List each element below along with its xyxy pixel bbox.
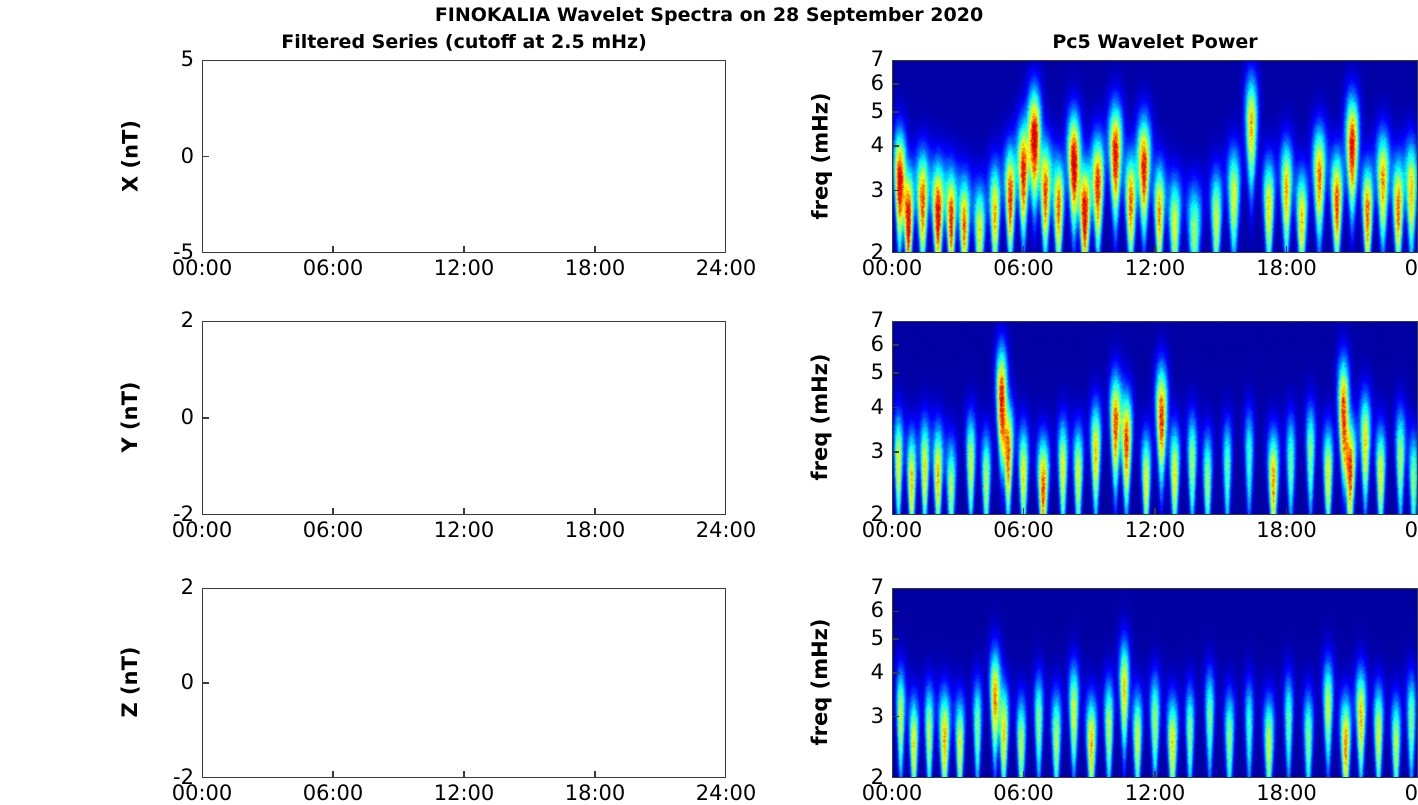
x-tick-label: 00 <box>1405 257 1418 279</box>
x-tick-label: 00:00 <box>172 519 233 541</box>
x-tick-label: 18:00 <box>1256 782 1317 804</box>
x-tick-mark <box>594 771 596 778</box>
y-tick-mark <box>892 372 899 374</box>
y-tick-label: 5 <box>181 49 194 70</box>
y-tick-mark <box>202 682 209 684</box>
x-tick-mark <box>1154 771 1156 778</box>
y-tick-mark <box>892 611 899 613</box>
y-tick-mark <box>892 672 899 674</box>
y-tick-label: 0 <box>181 672 194 693</box>
y-tick-label: 6 <box>871 73 884 94</box>
y-axis-ticks: 765432 <box>838 588 884 778</box>
x-tick-label: 06:00 <box>303 519 364 541</box>
x-tick-label: 00:00 <box>862 257 923 279</box>
y-axis-ticks: 765432 <box>838 321 884 515</box>
left-column-title: Filtered Series (cutoff at 2.5 mHz) <box>150 31 778 53</box>
x-tick-mark <box>463 246 465 253</box>
y-tick-mark <box>892 407 899 409</box>
axes-frame <box>892 60 1418 253</box>
y-axis-ticks: 20-2 <box>148 588 194 778</box>
y-tick-label: 2 <box>181 577 194 598</box>
y-tick-label: 6 <box>871 600 884 621</box>
y-tick-mark <box>892 451 899 453</box>
plot-panel-z-wavelet-power: 765432freq (mHz)00:0006:0012:0018:0000 <box>892 588 1418 778</box>
y-axis-ticks: 765432 <box>838 60 884 253</box>
x-tick-label: 06:00 <box>993 519 1054 541</box>
y-tick-label: 6 <box>871 334 884 355</box>
right-column-title: Pc5 Wavelet Power <box>892 31 1418 53</box>
x-tick-label: 06:00 <box>303 257 364 279</box>
x-tick-label: 24:00 <box>696 519 757 541</box>
x-tick-mark <box>332 508 334 515</box>
axes-frame <box>202 321 726 515</box>
x-tick-label: 00:00 <box>862 519 923 541</box>
x-tick-label: 24:00 <box>696 257 757 279</box>
x-tick-mark <box>1154 508 1156 515</box>
plot-panel-y-filtered-series: 20-2Y (nT)00:0006:0012:0018:0024:00 <box>202 321 726 515</box>
y-axis-label: Y (nT) <box>118 320 142 514</box>
plot-panel-x-filtered-series: 50-5X (nT)00:0006:0012:0018:0024:00 <box>202 60 726 253</box>
y-axis-label: X (nT) <box>118 59 142 252</box>
axes-frame <box>202 588 726 778</box>
x-tick-mark <box>1154 246 1156 253</box>
x-tick-label: 00:00 <box>172 257 233 279</box>
y-tick-label: 5 <box>871 101 884 122</box>
axes-frame <box>892 588 1418 778</box>
x-tick-label: 18:00 <box>1256 257 1317 279</box>
y-tick-label: 0 <box>181 146 194 167</box>
y-tick-label: 4 <box>871 135 884 156</box>
axes-frame <box>202 60 726 253</box>
x-tick-mark <box>332 246 334 253</box>
x-tick-label: 12:00 <box>1125 782 1186 804</box>
y-tick-label: 3 <box>871 180 884 201</box>
y-tick-mark <box>892 344 899 346</box>
y-tick-mark <box>202 417 209 419</box>
y-tick-label: 7 <box>871 49 884 70</box>
x-tick-label: 12:00 <box>1125 519 1186 541</box>
x-tick-mark <box>463 771 465 778</box>
y-tick-mark <box>892 83 899 85</box>
y-tick-label: 3 <box>871 706 884 727</box>
plot-panel-x-wavelet-power: 765432freq (mHz)00:0006:0012:0018:0000 <box>892 60 1418 253</box>
y-axis-label: freq (mHz) <box>808 587 832 777</box>
y-tick-label: 0 <box>181 407 194 428</box>
y-tick-mark <box>892 111 899 113</box>
x-tick-label: 18:00 <box>565 782 626 804</box>
y-tick-mark <box>892 716 899 718</box>
figure-canvas: FINOKALIA Wavelet Spectra on 28 Septembe… <box>0 0 1418 788</box>
x-tick-label: 12:00 <box>434 782 495 804</box>
x-tick-label: 18:00 <box>565 257 626 279</box>
x-tick-mark <box>594 246 596 253</box>
y-tick-label: 5 <box>871 362 884 383</box>
y-axis-label: freq (mHz) <box>808 320 832 514</box>
y-tick-label: 3 <box>871 441 884 462</box>
x-tick-label: 06:00 <box>303 782 364 804</box>
y-axis-ticks: 20-2 <box>148 321 194 515</box>
x-tick-label: 00 <box>1405 519 1418 541</box>
x-tick-label: 00:00 <box>862 782 923 804</box>
x-tick-label: 18:00 <box>1256 519 1317 541</box>
x-tick-label: 06:00 <box>993 782 1054 804</box>
y-axis-label: freq (mHz) <box>808 59 832 252</box>
y-tick-label: 7 <box>871 310 884 331</box>
y-tick-label: 5 <box>871 628 884 649</box>
x-tick-label: 00:00 <box>172 782 233 804</box>
x-tick-mark <box>332 771 334 778</box>
x-tick-mark <box>463 508 465 515</box>
y-tick-label: 4 <box>871 397 884 418</box>
figure-title: FINOKALIA Wavelet Spectra on 28 Septembe… <box>0 4 1418 26</box>
y-tick-label: 2 <box>181 310 194 331</box>
x-tick-label: 06:00 <box>993 257 1054 279</box>
x-tick-label: 12:00 <box>434 257 495 279</box>
x-tick-label: 12:00 <box>434 519 495 541</box>
y-tick-mark <box>892 638 899 640</box>
y-tick-label: 7 <box>871 577 884 598</box>
x-tick-mark <box>1023 246 1025 253</box>
axes-frame <box>892 321 1418 515</box>
y-tick-mark <box>202 156 209 158</box>
y-tick-label: 4 <box>871 662 884 683</box>
x-tick-mark <box>1023 508 1025 515</box>
x-tick-mark <box>594 508 596 515</box>
x-tick-mark <box>1023 771 1025 778</box>
plot-panel-y-wavelet-power: 765432freq (mHz)00:0006:0012:0018:0000 <box>892 321 1418 515</box>
x-tick-label: 00 <box>1405 782 1418 804</box>
x-tick-mark <box>1286 508 1288 515</box>
y-tick-mark <box>892 190 899 192</box>
y-axis-ticks: 50-5 <box>148 60 194 253</box>
y-axis-label: Z (nT) <box>118 587 142 777</box>
y-tick-mark <box>892 145 899 147</box>
x-tick-label: 18:00 <box>565 519 626 541</box>
x-tick-label: 24:00 <box>696 782 757 804</box>
x-tick-mark <box>1286 246 1288 253</box>
x-tick-label: 12:00 <box>1125 257 1186 279</box>
x-tick-mark <box>1286 771 1288 778</box>
plot-panel-z-filtered-series: 20-2Z (nT)00:0006:0012:0018:0024:00 <box>202 588 726 778</box>
